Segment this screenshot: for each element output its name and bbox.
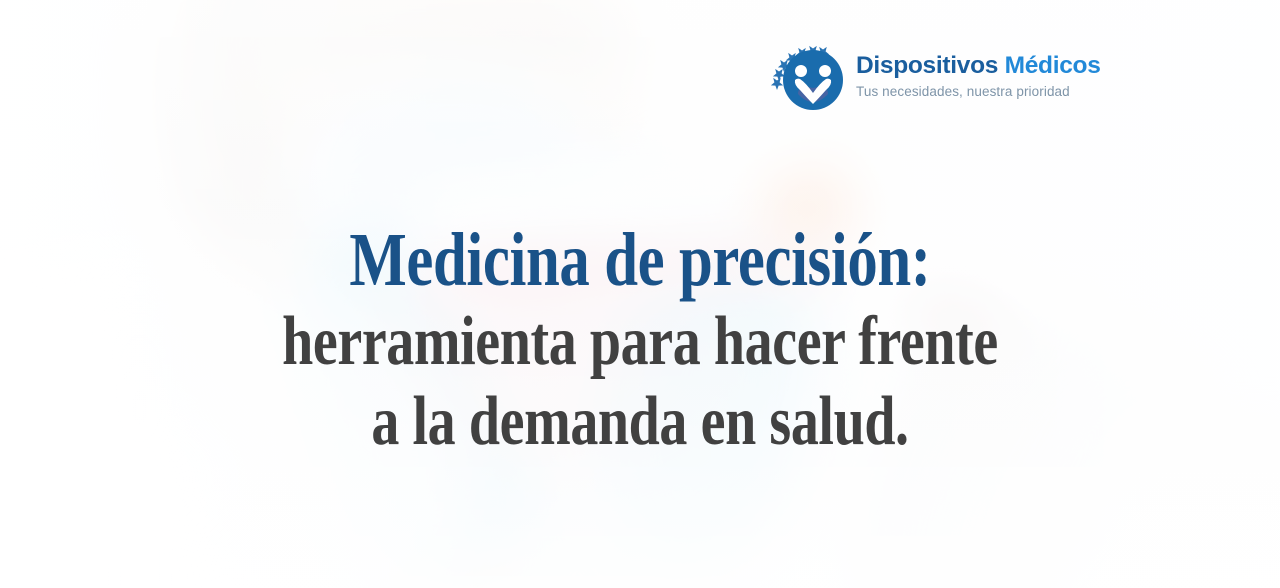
headline-line-2: herramienta para hacer frente xyxy=(128,302,1152,382)
logo-person-right-head xyxy=(819,65,831,77)
logo-title-word-2: Médicos xyxy=(1005,52,1101,79)
headline-line-1: Medicina de precisión: xyxy=(128,218,1152,302)
headline-line-3: a la demanda en salud. xyxy=(128,382,1152,462)
promotional-banner: Dispositivos Médicos Tus necesidades, nu… xyxy=(0,0,1280,588)
logo-text-block: Dispositivos Médicos Tus necesidades, nu… xyxy=(856,52,1101,98)
logo-title-word-1: Dispositivos xyxy=(856,52,998,79)
brand-logo[interactable]: Dispositivos Médicos Tus necesidades, nu… xyxy=(768,38,1101,112)
logo-mark-icon xyxy=(768,38,846,112)
logo-person-left-head xyxy=(795,65,807,77)
logo-title: Dispositivos Médicos xyxy=(856,54,1101,79)
headline-block: Medicina de precisión: herramienta para … xyxy=(0,218,1280,462)
logo-tagline: Tus necesidades, nuestra prioridad xyxy=(856,85,1101,99)
